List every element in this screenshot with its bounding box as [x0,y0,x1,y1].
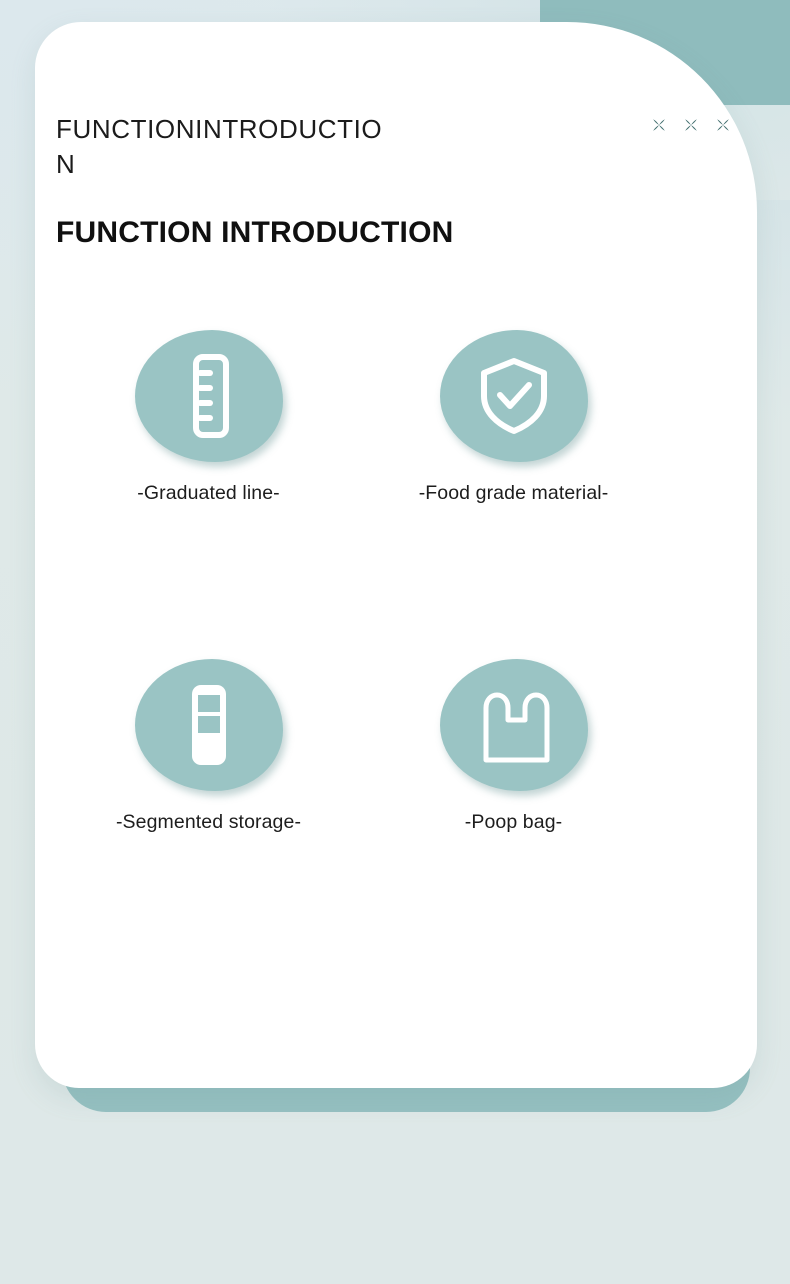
sparkle-icon [714,116,732,134]
shopping-bag-icon [478,686,550,764]
feature-label: -Segmented storage- [116,811,301,834]
feature-item-graduated-line[interactable]: -Graduated line- [56,330,361,505]
segmented-storage-icon [180,682,238,768]
feature-grid: -Graduated line- -Food grade material- -… [56,330,666,834]
ruler-icon [178,353,240,439]
feature-item-segmented-storage[interactable]: -Segmented storage- [56,659,361,834]
feature-item-food-grade-material[interactable]: -Food grade material- [361,330,666,505]
sparkle-icon [650,116,668,134]
feature-icon-badge [440,659,588,791]
feature-label: -Food grade material- [419,482,609,505]
feature-icon-badge [440,330,588,462]
feature-icon-badge [135,330,283,462]
shield-check-icon [478,356,550,436]
page-title: FUNCTION INTRODUCTION [56,216,454,250]
feature-icon-badge [135,659,283,791]
feature-label: -Graduated line- [137,482,280,505]
feature-item-poop-bag[interactable]: -Poop bag- [361,659,666,834]
sparkle-group [650,116,732,134]
feature-label: -Poop bag- [465,811,562,834]
sparkle-icon [682,116,700,134]
kicker-text: FUNCTIONINTRODUCTION [56,112,386,182]
